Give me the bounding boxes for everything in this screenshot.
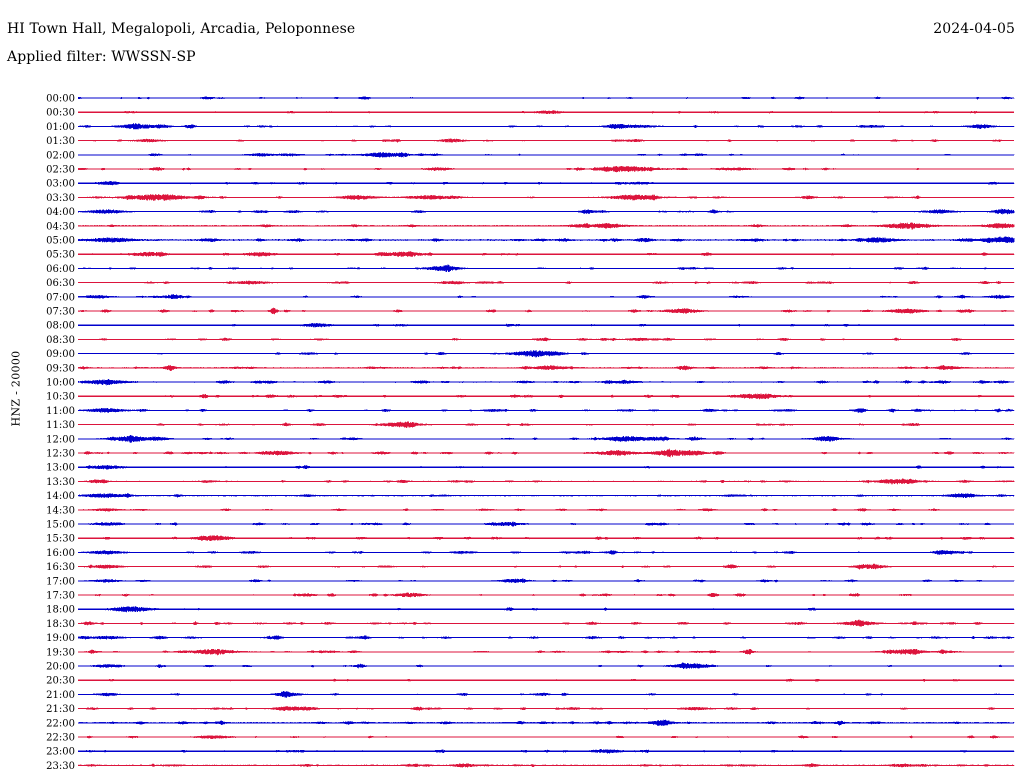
row-time-label: 05:30 [46,250,75,261]
row-time-label: 10:00 [46,378,75,389]
row-time-label: 07:30 [46,307,75,318]
row-time-label: 16:30 [46,562,75,573]
trace-row: 04:30 [46,221,1014,232]
trace-row: 14:30 [46,505,1014,516]
trace-row: 07:00 [46,292,1014,303]
trace-row: 11:00 [46,406,1014,417]
trace-row: 21:00 [46,690,1014,701]
trace-row: 23:00 [46,747,1014,758]
trace-row: 09:00 [46,349,1014,360]
trace-row: 00:30 [46,108,1014,119]
applied-filter-label: Applied filter: WWSSN-SP [7,49,196,65]
page-title: HI Town Hall, Megalopoli, Arcadia, Pelop… [7,21,355,37]
row-time-label: 01:00 [46,122,75,133]
row-time-label: 23:30 [46,761,75,772]
trace-row: 02:00 [46,150,1014,161]
trace-row: 06:30 [46,278,1014,289]
trace-row: 07:30 [46,307,1014,318]
row-time-label: 08:30 [46,335,75,346]
row-time-label: 02:00 [46,150,75,161]
trace-row: 22:30 [46,733,1014,744]
row-time-label: 03:30 [46,193,75,204]
row-time-label: 13:00 [46,463,75,474]
seismogram-page: HI Town Hall, Megalopoli, Arcadia, Pelop… [0,0,1024,780]
trace-row: 00:00 [46,94,1014,105]
row-time-label: 09:30 [46,363,75,374]
row-time-label: 06:30 [46,278,75,289]
row-time-label: 23:00 [46,747,75,758]
row-time-label: 04:30 [46,221,75,232]
row-time-label: 18:30 [46,619,75,630]
trace-row: 02:30 [46,165,1014,176]
row-time-label: 21:30 [46,704,75,715]
trace-row: 20:30 [46,676,1014,687]
trace-row: 15:00 [46,520,1014,531]
row-time-label: 17:00 [46,576,75,587]
trace-row: 20:00 [46,662,1014,673]
date-label: 2024-04-05 [933,21,1015,37]
row-time-label: 01:30 [46,136,75,147]
trace-row: 05:00 [46,236,1014,247]
row-time-label: 13:30 [46,477,75,488]
row-time-label: 08:00 [46,321,75,332]
trace-row: 08:30 [46,335,1014,346]
trace-row: 13:30 [46,477,1014,488]
row-time-label: 16:00 [46,548,75,559]
trace-row: 14:00 [46,491,1014,502]
trace-row: 09:30 [46,363,1014,374]
row-time-label: 19:00 [46,633,75,644]
row-time-label: 12:00 [46,434,75,445]
trace-row: 05:30 [46,250,1014,261]
row-time-label: 20:30 [46,676,75,687]
trace-row: 17:30 [46,591,1014,602]
row-time-label: 03:00 [46,179,75,190]
row-time-label: 14:30 [46,505,75,516]
row-time-label: 11:00 [46,406,75,417]
row-time-label: 11:30 [46,420,75,431]
row-time-label: 17:30 [46,591,75,602]
trace-row: 15:30 [46,534,1014,545]
row-time-label: 07:00 [46,292,75,303]
trace-row: 03:00 [46,179,1014,190]
trace-row: 08:00 [46,321,1014,332]
trace-row: 10:00 [46,378,1014,389]
row-time-label: 18:00 [46,605,75,616]
row-time-label: 15:30 [46,534,75,545]
trace-row: 16:30 [46,562,1014,573]
row-time-label: 00:30 [46,108,75,119]
row-time-label: 14:00 [46,491,75,502]
row-time-label: 05:00 [46,236,75,247]
row-time-label: 15:00 [46,520,75,531]
trace-row: 01:00 [46,122,1014,133]
trace-row: 17:00 [46,576,1014,587]
row-time-label: 00:00 [46,94,75,105]
row-time-label: 19:30 [46,647,75,658]
trace-row: 10:30 [46,392,1014,403]
helicorder-plot: 00:0000:3001:0001:3002:0002:3003:0003:30… [0,82,1024,772]
trace-row: 16:00 [46,548,1014,559]
trace-row: 12:30 [46,449,1014,460]
row-time-label: 09:00 [46,349,75,360]
row-time-label: 06:00 [46,264,75,275]
trace-row: 18:30 [46,619,1014,630]
trace-row: 19:30 [46,647,1014,658]
trace-row: 21:30 [46,704,1014,715]
row-time-label: 10:30 [46,392,75,403]
trace-row: 12:00 [46,434,1014,445]
row-time-label: 21:00 [46,690,75,701]
row-time-label: 12:30 [46,449,75,460]
trace-row: 04:00 [46,207,1014,218]
trace-row: 11:30 [46,420,1014,431]
trace-row: 23:30 [46,761,1014,772]
trace-row: 13:00 [46,463,1014,474]
trace-row: 03:30 [46,193,1014,204]
row-time-label: 04:00 [46,207,75,218]
helicorder-svg: 00:0000:3001:0001:3002:0002:3003:0003:30… [0,82,1024,772]
trace-row: 19:00 [46,633,1014,644]
row-time-label: 22:00 [46,718,75,729]
trace-row: 18:00 [46,605,1014,616]
trace-row: 01:30 [46,136,1014,147]
row-time-label: 02:30 [46,165,75,176]
row-time-label: 20:00 [46,662,75,673]
trace-row: 06:00 [46,264,1014,275]
trace-row: 22:00 [46,718,1014,729]
row-time-label: 22:30 [46,733,75,744]
